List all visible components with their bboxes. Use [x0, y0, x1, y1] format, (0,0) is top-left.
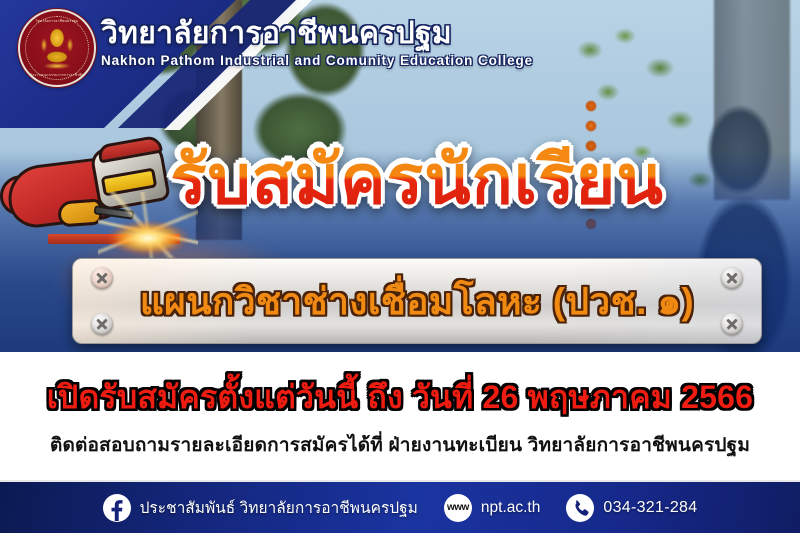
www-label: www	[447, 502, 469, 513]
contact-instructions: ติดต่อสอบถามรายละเอียดการสมัครได้ที่ ฝ่า…	[50, 430, 750, 460]
footer-item-facebook[interactable]: ประชาสัมพันธ์ วิทยาลัยการอาชีพนครปฐม	[103, 494, 418, 522]
header-text-group: วิทยาลัยการอาชีพนครปฐม Nakhon Pathom Ind…	[101, 18, 533, 68]
phone-icon[interactable]	[566, 494, 594, 522]
facebook-page-name[interactable]: ประชาสัมพันธ์ วิทยาลัยการอาชีพนครปฐม	[140, 495, 418, 520]
promotional-banner: วิทยาลัยการอาชีพนครปฐม สำนักงานคณะกรรมกา…	[0, 0, 800, 533]
college-seal-icon: วิทยาลัยการอาชีพนครปฐม สำนักงานคณะกรรมกา…	[18, 9, 96, 87]
page-title: รับสมัครนักเรียน	[0, 146, 800, 214]
website-url[interactable]: npt.ac.th	[481, 499, 540, 517]
department-plate: แผนกวิชาช่างเชื่อมโลหะ (ปวช. ๑)	[72, 258, 762, 344]
college-name-english: Nakhon Pathom Industrial and Comunity Ed…	[101, 53, 533, 68]
footer-item-website[interactable]: www npt.ac.th	[444, 494, 540, 522]
phone-number[interactable]: 034-321-284	[603, 499, 697, 517]
footer-item-phone[interactable]: 034-321-284	[566, 494, 697, 522]
application-period: เปิดรับสมัครตั้งแต่วันนี้ ถึง วันที่ 26 …	[47, 372, 753, 423]
seal-ring-text-bottom: สำนักงานคณะกรรมการการอาชีวศึกษา	[20, 73, 94, 78]
footer-contact-bar: ประชาสัมพันธ์ วิทยาลัยการอาชีพนครปฐม www…	[0, 480, 800, 533]
department-name: แผนกวิชาช่างเชื่อมโลหะ (ปวช. ๑)	[73, 259, 761, 343]
info-panel: เปิดรับสมัครตั้งแต่วันนี้ ถึง วันที่ 26 …	[0, 352, 800, 480]
seal-emblem-glyph	[34, 25, 80, 71]
seal-ring-text-top: วิทยาลัยการอาชีพนครปฐม	[20, 19, 94, 24]
www-globe-icon[interactable]: www	[444, 494, 472, 522]
facebook-icon[interactable]	[103, 494, 131, 522]
college-name-thai: วิทยาลัยการอาชีพนครปฐม	[101, 18, 533, 50]
header: วิทยาลัยการอาชีพนครปฐม สำนักงานคณะกรรมกา…	[0, 0, 800, 96]
